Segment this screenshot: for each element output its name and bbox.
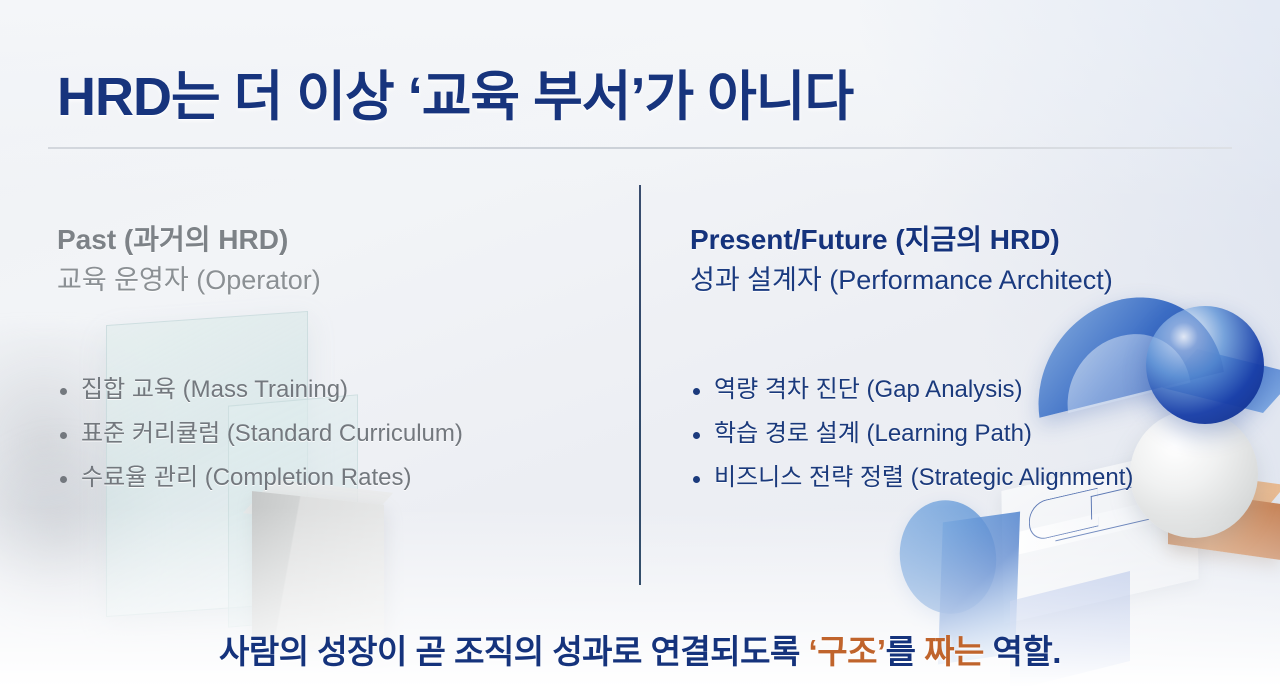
caption-highlight-build: 짜는: [924, 633, 984, 670]
column-past-subheading: 교육 운영자 (Operator): [57, 263, 617, 298]
caption-part-1: 사람의 성장이 곧 조직의 성과로 연결되도록: [219, 633, 809, 670]
column-divider-line: [639, 185, 641, 585]
column-present-future-heading: Present/Future (지금의 HRD): [690, 222, 1250, 257]
list-item: 학습 경로 설계 (Learning Path): [690, 412, 1250, 456]
caption-part-3: 역할.: [984, 633, 1061, 670]
title-divider-rule: [48, 147, 1232, 149]
column-present-future-subheading: 성과 설계자 (Performance Architect): [690, 263, 1250, 298]
caption-highlight-structure: ‘구조’: [809, 633, 886, 670]
column-past-heading: Past (과거의 HRD): [57, 222, 617, 257]
page-title: HRD는 더 이상 ‘교육 부서’가 아니다: [57, 52, 853, 131]
list-item: 집합 교육 (Mass Training): [57, 368, 617, 412]
list-item: 수료율 관리 (Completion Rates): [57, 456, 617, 500]
slide-content: HRD는 더 이상 ‘교육 부서’가 아니다 Past (과거의 HRD) 교육…: [0, 0, 1280, 687]
list-item: 비즈니스 전략 정렬 (Strategic Alignment): [690, 456, 1250, 500]
list-item: 표준 커리큘럼 (Standard Curriculum): [57, 412, 617, 456]
column-present-future-bullet-list: 역량 격차 진단 (Gap Analysis) 학습 경로 설계 (Learni…: [690, 368, 1250, 500]
bottom-caption: 사람의 성장이 곧 조직의 성과로 연결되도록 ‘구조’를 짜는 역할.: [0, 625, 1280, 673]
column-past: Past (과거의 HRD) 교육 운영자 (Operator) 집합 교육 (…: [57, 222, 617, 298]
column-present-future: Present/Future (지금의 HRD) 성과 설계자 (Perform…: [690, 222, 1250, 298]
column-past-bullet-list: 집합 교육 (Mass Training) 표준 커리큘럼 (Standard …: [57, 368, 617, 500]
slide-canvas: HRD는 더 이상 ‘교육 부서’가 아니다 Past (과거의 HRD) 교육…: [0, 0, 1280, 687]
caption-part-2: 를: [886, 633, 925, 670]
list-item: 역량 격차 진단 (Gap Analysis): [690, 368, 1250, 412]
